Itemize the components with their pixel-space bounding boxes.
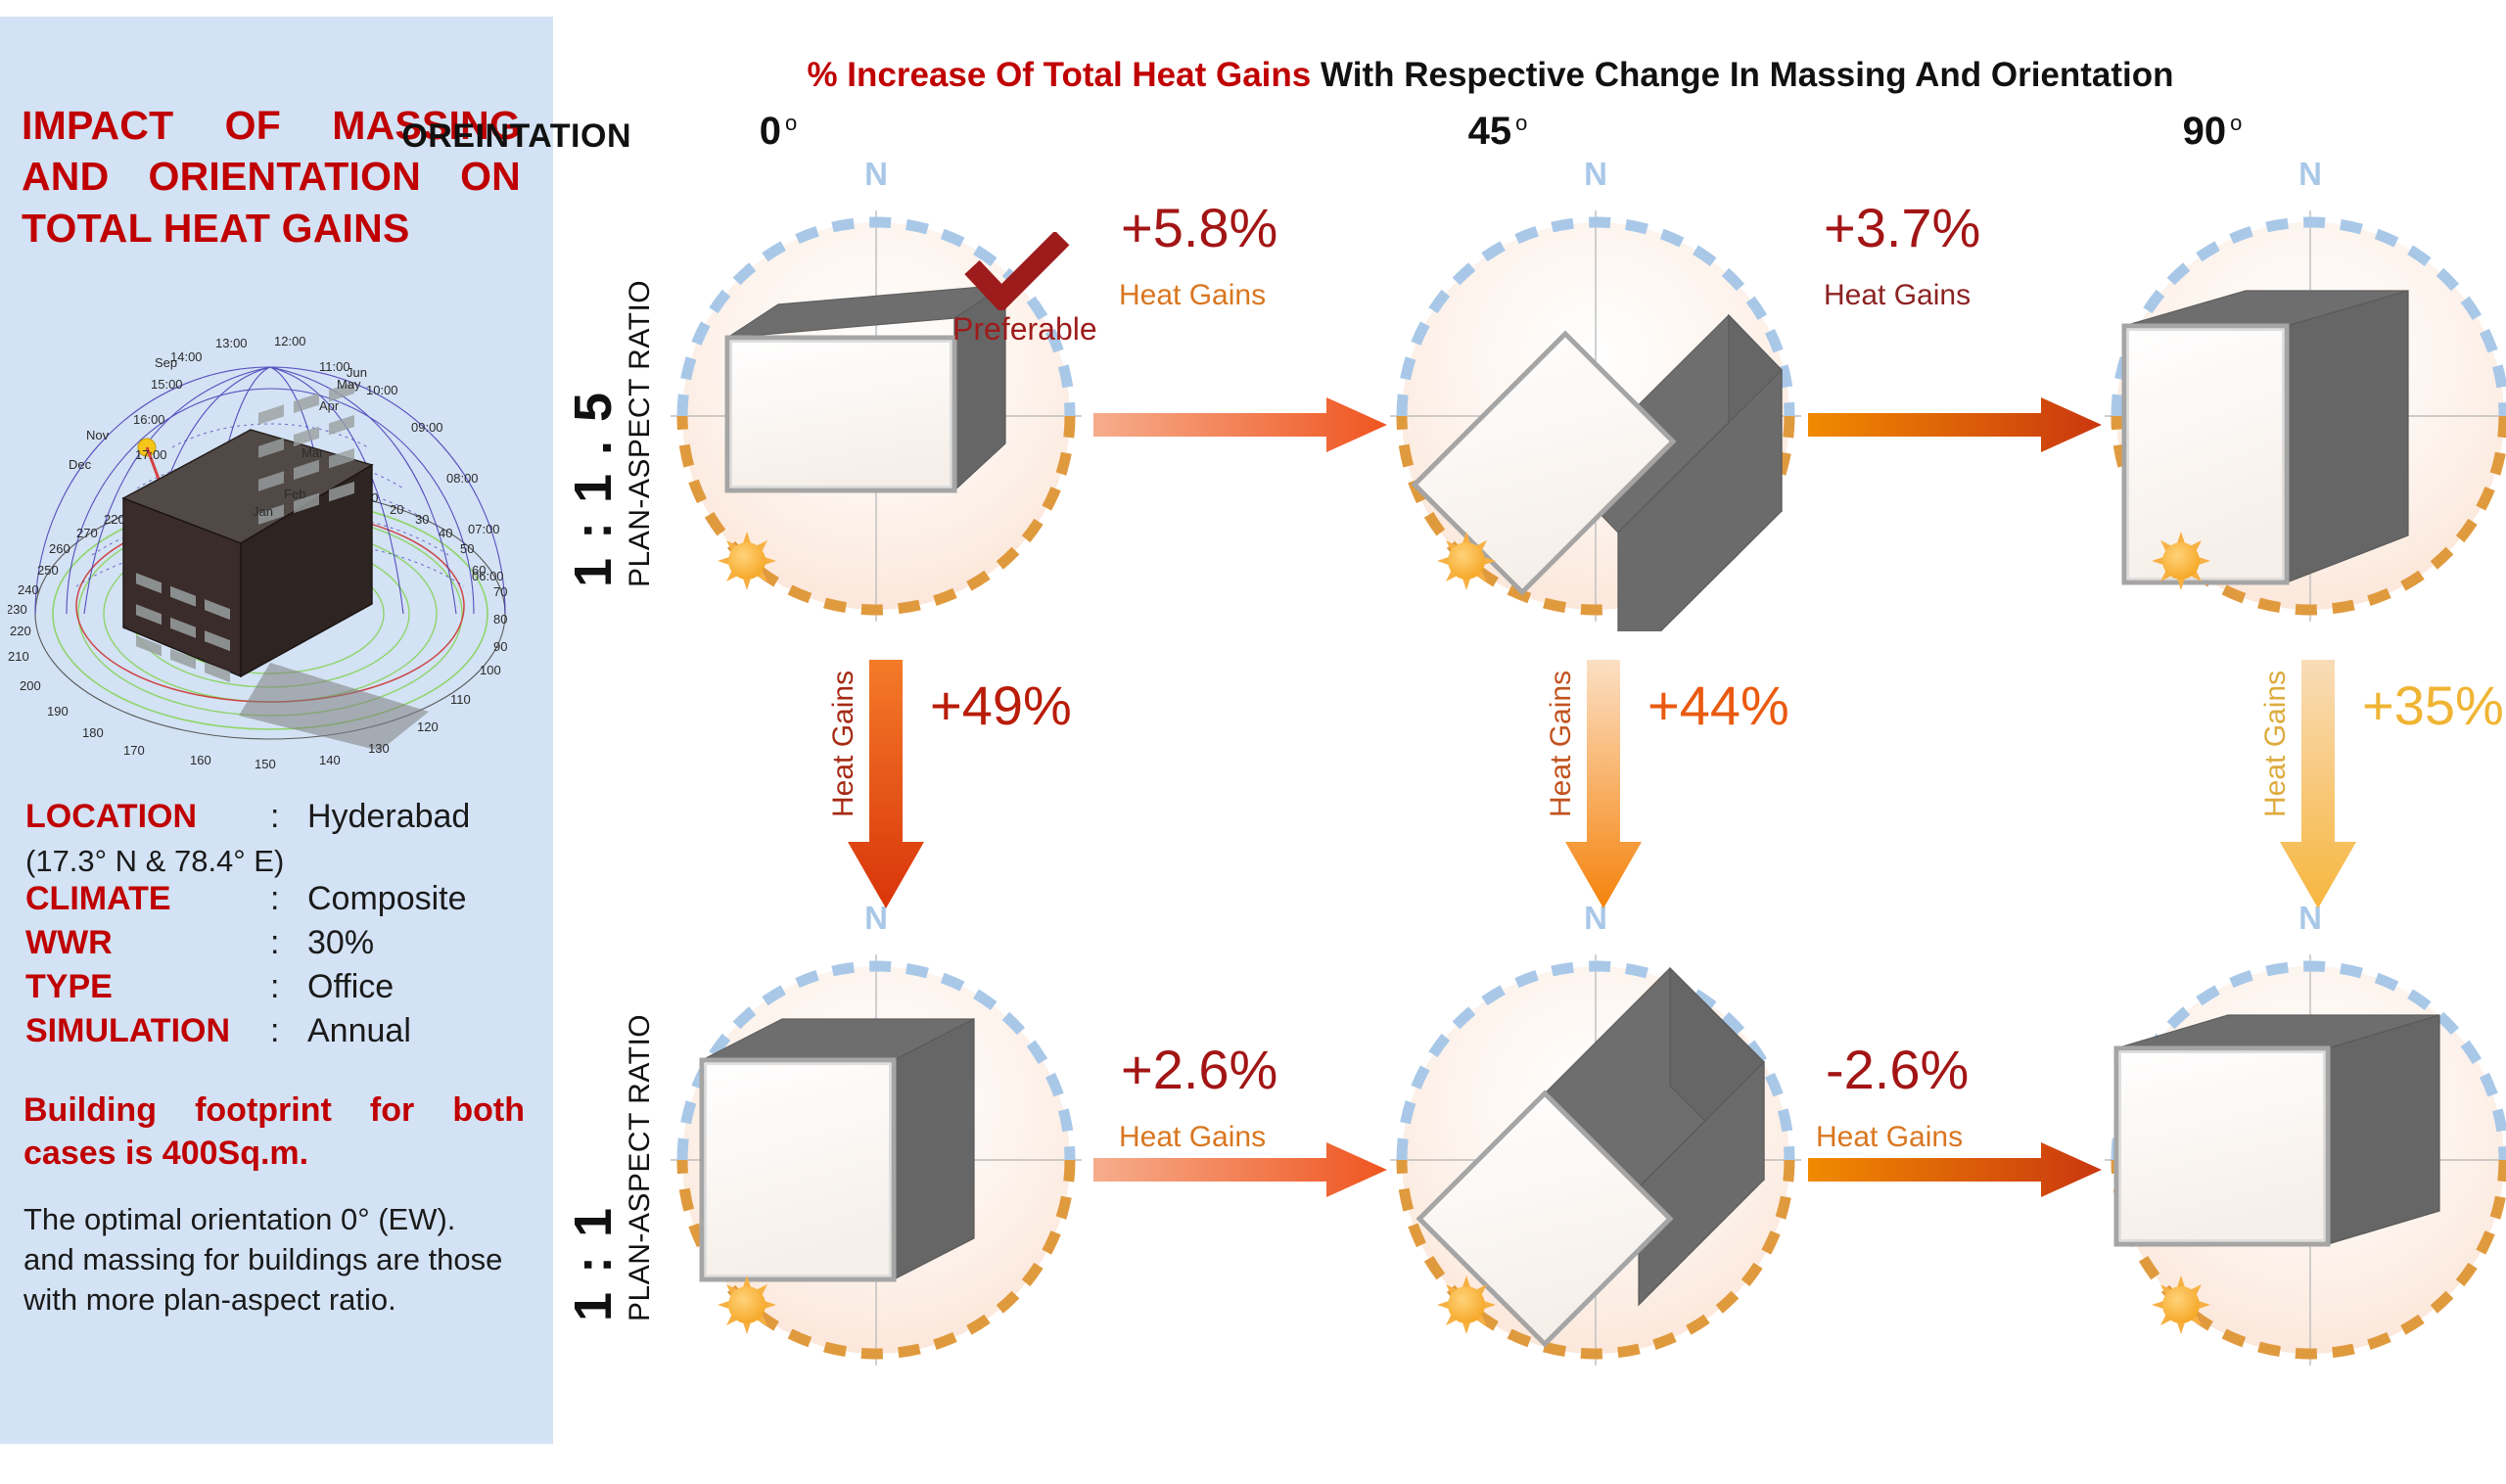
svg-text:Nov: Nov bbox=[86, 428, 110, 442]
spec-colon: : bbox=[270, 926, 307, 959]
svg-text:Mar: Mar bbox=[302, 445, 324, 460]
svg-text:60: 60 bbox=[472, 563, 486, 578]
row-label-ratio-1-1-5: 1 : 1 . 5 bbox=[563, 391, 624, 587]
orientation-axis-label: OREINTATION bbox=[338, 117, 631, 156]
svg-text:220: 220 bbox=[10, 624, 31, 638]
svg-text:220: 220 bbox=[104, 512, 125, 527]
spec-key: LOCATION bbox=[25, 800, 270, 833]
sun-icon bbox=[1437, 532, 1496, 590]
spec-row-location: LOCATION : Hyderabad bbox=[25, 800, 534, 844]
spec-colon: : bbox=[270, 882, 307, 915]
preferable-label: Preferable bbox=[952, 311, 1097, 348]
sun-icon bbox=[2152, 532, 2210, 590]
svg-text:70: 70 bbox=[493, 584, 507, 599]
svg-text:08:00: 08:00 bbox=[446, 471, 479, 486]
transition-arrow-r1-45to90 bbox=[1808, 395, 2102, 459]
compass-cell-r2c2: N bbox=[1380, 945, 1811, 1375]
column-header-90deg: 90o bbox=[2114, 110, 2310, 154]
svg-text:260: 260 bbox=[49, 541, 70, 556]
heat-gains-label-c1-ratio: Heat Gains bbox=[827, 671, 860, 817]
pct-label-c3-ratio: +35% bbox=[2362, 673, 2504, 737]
spec-value: Hyderabad bbox=[307, 800, 470, 833]
svg-text:180: 180 bbox=[82, 725, 104, 740]
compass-cell-r2c3: N bbox=[2095, 945, 2506, 1375]
svg-text:Jan: Jan bbox=[253, 504, 273, 519]
column-header-45deg: 45o bbox=[1400, 110, 1596, 154]
column-header-0deg: 0o bbox=[680, 110, 876, 154]
svg-text:10:00: 10:00 bbox=[366, 383, 398, 397]
compass-cell-r2c1: N bbox=[661, 945, 1091, 1375]
svg-text:190: 190 bbox=[47, 704, 69, 719]
svg-text:100: 100 bbox=[480, 663, 501, 677]
svg-text:240: 240 bbox=[18, 582, 39, 597]
svg-text:May: May bbox=[337, 377, 361, 392]
spec-row-wwr: WWR : 30% bbox=[25, 926, 534, 970]
svg-text:130: 130 bbox=[368, 741, 390, 756]
svg-text:15:00: 15:00 bbox=[151, 377, 183, 392]
chart-title-rest: With Respective Change In Massing And Or… bbox=[1311, 56, 2173, 94]
spec-row-simulation: SIMULATION : Annual bbox=[25, 1014, 534, 1058]
svg-text:110: 110 bbox=[450, 692, 471, 707]
spec-value: Annual bbox=[307, 1014, 411, 1047]
svg-text:30: 30 bbox=[415, 512, 429, 527]
spec-key: CLIMATE bbox=[25, 882, 270, 915]
svg-text:200: 200 bbox=[20, 678, 41, 693]
svg-text:50: 50 bbox=[460, 541, 474, 556]
footprint-note: Building footprint for both cases is 400… bbox=[23, 1089, 525, 1175]
sun-icon bbox=[1437, 1275, 1496, 1334]
svg-text:10: 10 bbox=[364, 490, 378, 505]
heat-gains-label-r1-45to90: Heat Gains bbox=[1824, 279, 1971, 312]
sun-path-diagram: 13:0012:00 11:0010:00 09:0008:00 07:0006… bbox=[8, 320, 546, 770]
coordinates: (17.3° N & 78.4° E) bbox=[25, 846, 534, 876]
optimal-orientation-note: The optimal orientation 0° (EW). and mas… bbox=[23, 1199, 513, 1321]
spec-value: Composite bbox=[307, 882, 467, 915]
sun-icon bbox=[718, 532, 776, 590]
compass-cell-r1c2: N bbox=[1380, 201, 1811, 631]
north-label: N bbox=[1380, 156, 1811, 193]
spec-list: LOCATION : Hyderabad (17.3° N & 78.4° E)… bbox=[25, 800, 534, 1058]
heat-gains-label-r2-45to90: Heat Gains bbox=[1816, 1121, 1963, 1154]
heat-gains-label-c3-ratio: Heat Gains bbox=[2259, 671, 2293, 817]
heat-gains-label-c2-ratio: Heat Gains bbox=[1545, 671, 1578, 817]
spec-key: WWR bbox=[25, 926, 270, 959]
svg-text:250: 250 bbox=[37, 563, 59, 578]
svg-text:Dec: Dec bbox=[69, 457, 92, 472]
svg-text:09:00: 09:00 bbox=[411, 420, 443, 435]
pct-label-c2-ratio: +44% bbox=[1647, 673, 1789, 737]
svg-text:12:00: 12:00 bbox=[274, 334, 306, 348]
heat-gains-label-r1-0to45: Heat Gains bbox=[1119, 279, 1266, 312]
svg-text:16:00: 16:00 bbox=[133, 412, 165, 427]
north-label: N bbox=[2095, 156, 2506, 193]
svg-text:80: 80 bbox=[493, 612, 507, 626]
svg-text:230: 230 bbox=[8, 602, 27, 617]
svg-text:120: 120 bbox=[417, 719, 439, 734]
spec-key: TYPE bbox=[25, 970, 270, 1003]
building-massing-1-1-5-90deg bbox=[2124, 291, 2408, 582]
building-massing-1-1-90deg bbox=[2116, 1015, 2439, 1244]
svg-text:Sep: Sep bbox=[155, 355, 177, 370]
pct-label-c1-ratio: +49% bbox=[930, 673, 1072, 737]
svg-text:140: 140 bbox=[319, 753, 341, 767]
pct-label-r2-0to45: +2.6% bbox=[1121, 1038, 1277, 1101]
north-label: N bbox=[661, 156, 1091, 193]
spec-value: Office bbox=[307, 970, 394, 1003]
chart-title-highlight: % Increase Of Total Heat Gains bbox=[807, 56, 1311, 94]
spec-key: SIMULATION bbox=[25, 1014, 270, 1047]
row-label-plan-aspect-ratio-top: PLAN-ASPECT RATIO bbox=[624, 280, 657, 587]
spec-colon: : bbox=[270, 970, 307, 1003]
svg-text:17:00: 17:00 bbox=[135, 447, 167, 462]
diagram-main: % Increase Of Total Heat Gains With Resp… bbox=[553, 0, 2506, 1484]
svg-text:20: 20 bbox=[390, 502, 403, 517]
svg-text:Feb: Feb bbox=[284, 487, 305, 501]
svg-text:210: 210 bbox=[8, 649, 29, 664]
svg-text:160: 160 bbox=[190, 753, 211, 767]
compass-cell-r1c3: N bbox=[2095, 201, 2506, 631]
sun-icon bbox=[718, 1275, 776, 1334]
row-label-ratio-1-1: 1 : 1 bbox=[563, 1206, 624, 1322]
check-mark-icon bbox=[964, 232, 1072, 315]
svg-text:07:00: 07:00 bbox=[468, 522, 500, 536]
spec-colon: : bbox=[270, 1014, 307, 1047]
spec-row-climate: CLIMATE : Composite bbox=[25, 882, 534, 926]
svg-text:90: 90 bbox=[493, 639, 507, 654]
svg-text:13:00: 13:00 bbox=[215, 336, 248, 350]
chart-title: % Increase Of Total Heat Gains With Resp… bbox=[475, 56, 2506, 95]
pct-label-r1-45to90: +3.7% bbox=[1824, 196, 1980, 259]
row-label-plan-aspect-ratio-bottom: PLAN-ASPECT RATIO bbox=[624, 1014, 657, 1322]
heat-gains-label-r2-0to45: Heat Gains bbox=[1119, 1121, 1266, 1154]
spec-row-type: TYPE : Office bbox=[25, 970, 534, 1014]
svg-text:270: 270 bbox=[76, 526, 98, 540]
building-massing-1-1-0deg bbox=[702, 1019, 974, 1279]
info-sidebar: IMPACT OF MASSING AND ORIENTATION ON TOT… bbox=[0, 17, 553, 1444]
spec-value: 30% bbox=[307, 926, 374, 959]
pct-label-r1-0to45: +5.8% bbox=[1121, 196, 1277, 259]
svg-text:170: 170 bbox=[123, 743, 145, 758]
svg-text:40: 40 bbox=[439, 526, 452, 540]
sun-icon bbox=[2152, 1275, 2210, 1334]
svg-text:150: 150 bbox=[255, 757, 276, 770]
transition-arrow-r1-0to45 bbox=[1093, 395, 1387, 459]
pct-label-r2-45to90: -2.6% bbox=[1826, 1038, 1969, 1101]
spec-colon: : bbox=[270, 800, 307, 833]
svg-text:11:00: 11:00 bbox=[319, 359, 350, 374]
svg-text:Apr: Apr bbox=[319, 398, 340, 413]
